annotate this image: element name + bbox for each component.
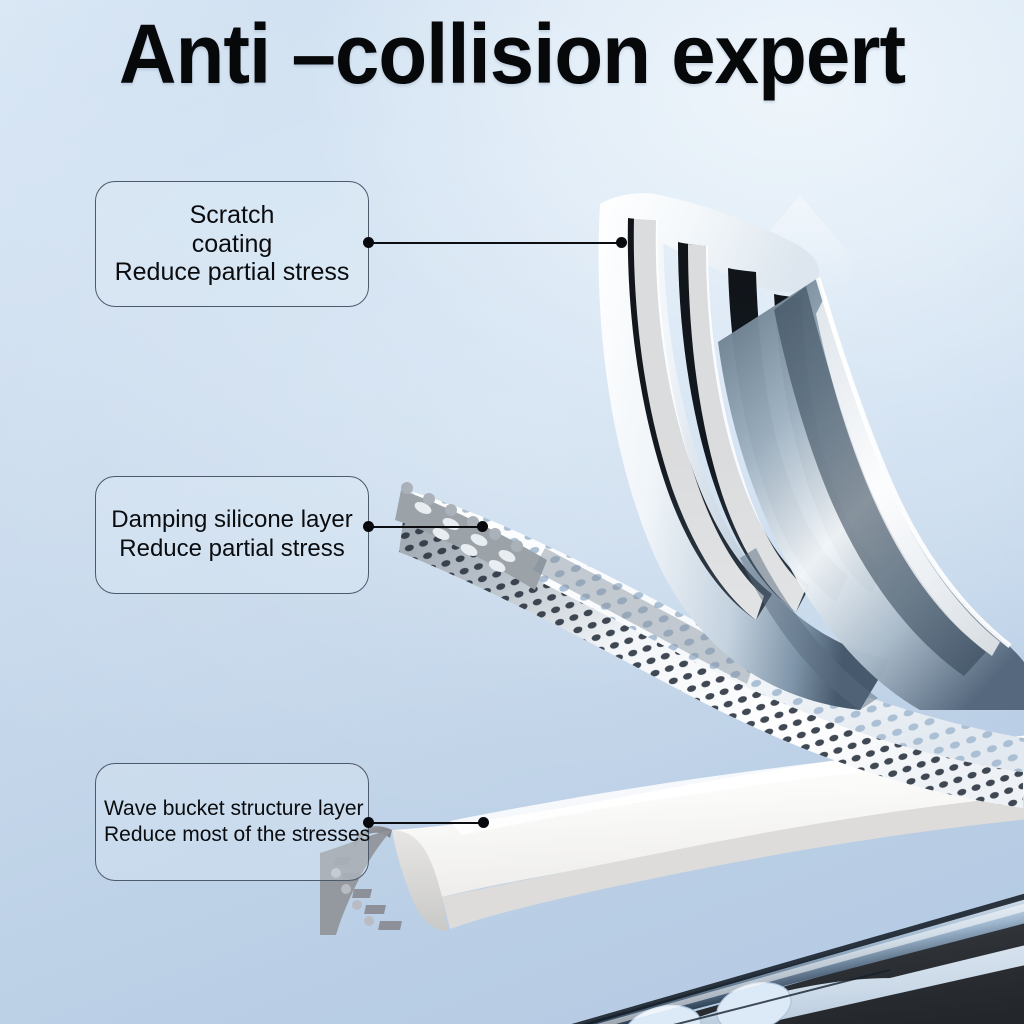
callout-scratch-coating[interactable]: Scratch coating Reduce partial stress: [95, 181, 369, 307]
callout-damping-silicone-layer[interactable]: Damping silicone layer Reduce partial st…: [95, 476, 369, 594]
infographic-canvas: Anti –collision expert Scratch coating R…: [0, 0, 1024, 1024]
connector-dot-target-scratch-coating: [616, 237, 627, 248]
connector-line-damping-silicone-layer: [369, 526, 482, 528]
scratch-coating-film-art: [560, 190, 1024, 710]
connector-dot-target-wave-bucket-structure-layer: [478, 817, 489, 828]
connector-dot-box-damping-silicone-layer: [363, 521, 374, 532]
page-title: Anti –collision expert: [26, 12, 999, 96]
callout-line: Reduce partial stress: [104, 258, 360, 287]
callout-wave-bucket-structure-layer[interactable]: Wave bucket structure layer Reduce most …: [95, 763, 369, 881]
phone-body-art: [330, 860, 1024, 1024]
callout-line: Damping silicone layer: [104, 506, 360, 535]
connector-dot-box-scratch-coating: [363, 237, 374, 248]
connector-dot-target-damping-silicone-layer: [477, 521, 488, 532]
callout-line: Reduce partial stress: [104, 535, 360, 564]
connector-dot-box-wave-bucket-structure-layer: [363, 817, 374, 828]
callout-line: coating: [104, 230, 360, 259]
connector-line-wave-bucket-structure-layer: [369, 822, 482, 824]
connector-line-scratch-coating: [369, 242, 621, 244]
callout-line: Wave bucket structure layer: [104, 796, 360, 822]
callout-text-block: Damping silicone layer Reduce partial st…: [96, 506, 368, 564]
callout-text-block: Wave bucket structure layer Reduce most …: [96, 796, 368, 847]
callout-line: Reduce most of the stresses: [104, 822, 360, 848]
callout-line: Scratch: [104, 201, 360, 230]
callout-text-block: Scratch coating Reduce partial stress: [96, 201, 368, 287]
